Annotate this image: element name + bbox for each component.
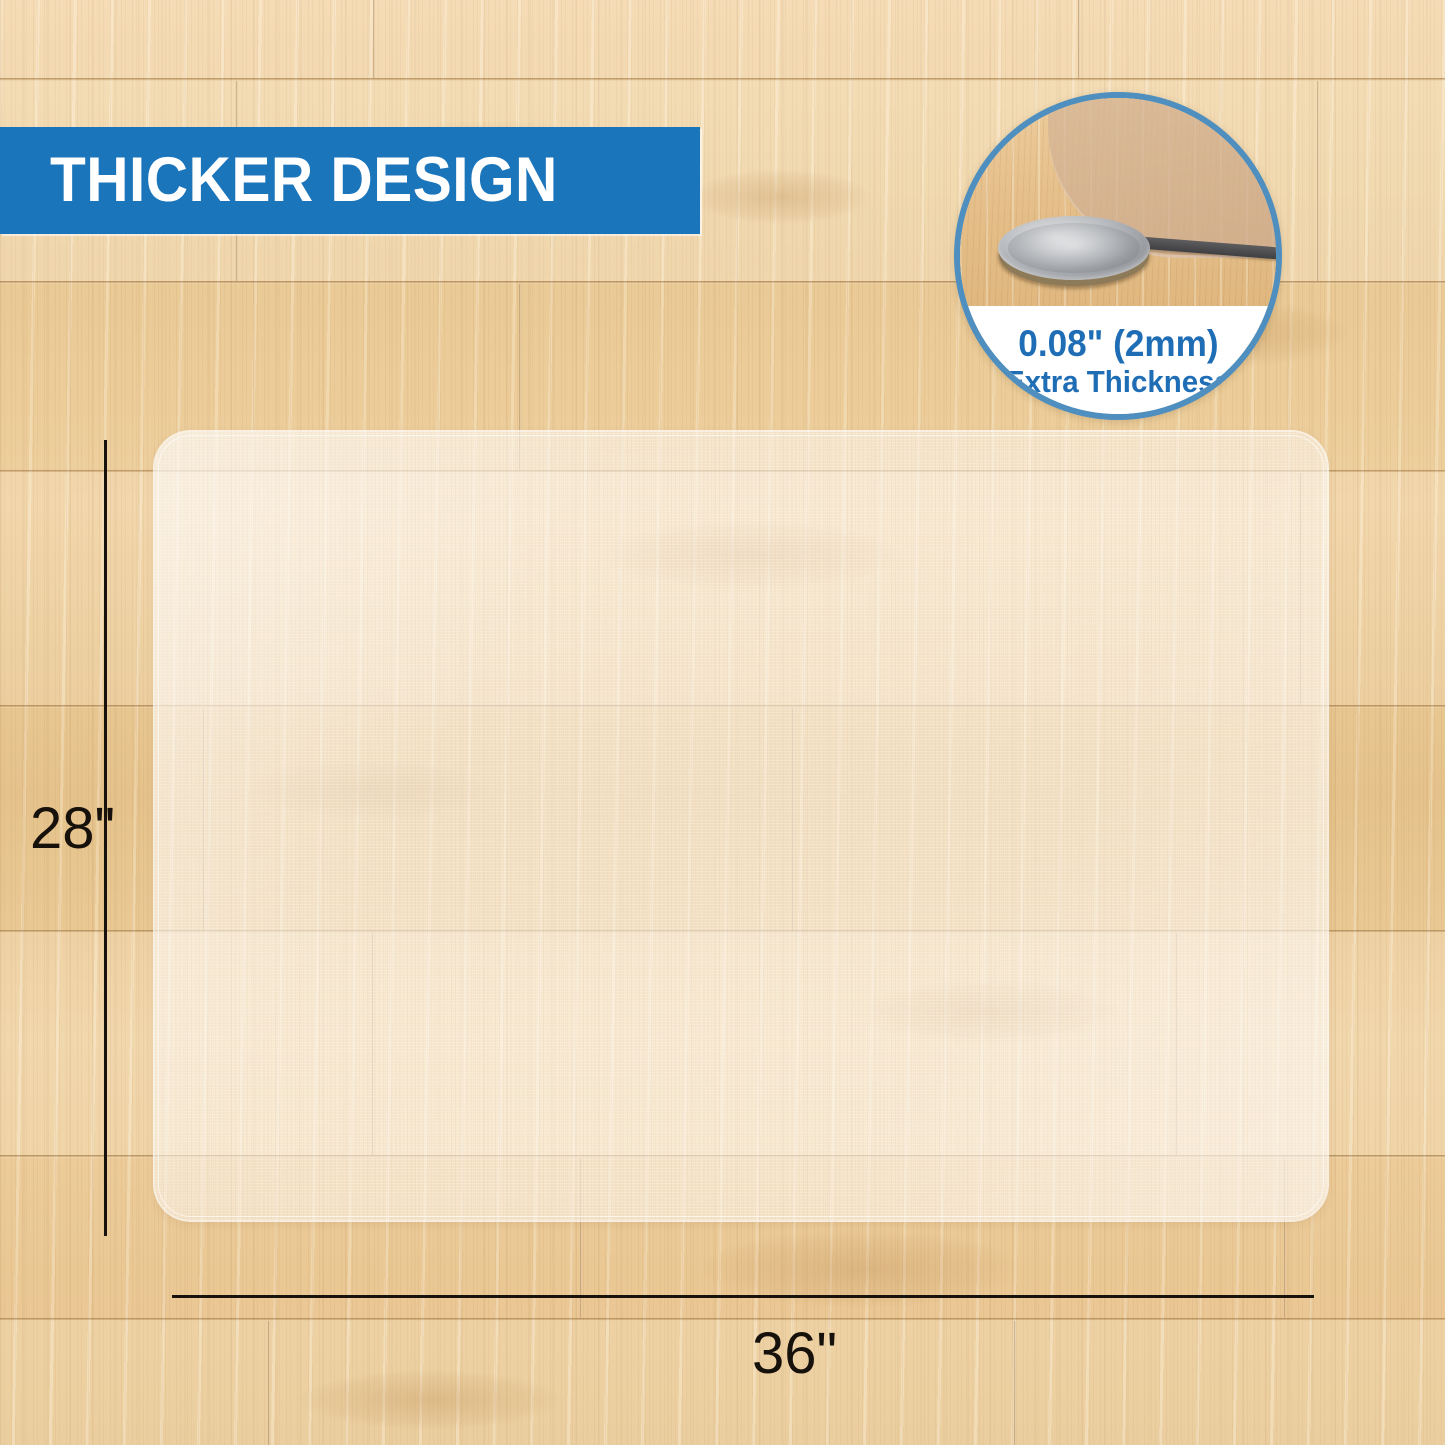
floor-plank <box>0 1321 1445 1445</box>
width-dimension-label: 36" <box>752 1325 837 1383</box>
plank-joint <box>1014 1321 1016 1445</box>
badge-thickness-caption: Extra Thickness <box>1005 365 1231 399</box>
thickness-callout-badge: 0.08" (2mm) Extra Thickness <box>954 92 1282 420</box>
banner-text: THICKER DESIGN <box>50 149 558 212</box>
plank-seam <box>0 78 1445 81</box>
quarter-coin-icon <box>998 216 1150 280</box>
plank-seam <box>0 1318 1445 1321</box>
floor-plank <box>0 0 1445 78</box>
product-image: THICKER DESIGN 0.08" (2mm) Extra Thickne… <box>0 0 1445 1445</box>
plank-joint <box>1078 0 1080 78</box>
wood-grain-knot <box>300 1370 560 1430</box>
plank-joint <box>1317 81 1319 281</box>
wood-grain-knot <box>690 170 870 224</box>
chair-mat <box>155 432 1327 1220</box>
plank-joint <box>268 1321 270 1445</box>
badge-label: 0.08" (2mm) Extra Thickness <box>960 306 1276 414</box>
width-dimension-line <box>172 1295 1314 1298</box>
plank-joint <box>373 0 375 78</box>
badge-closeup-photo <box>960 98 1276 306</box>
badge-thickness-value: 0.08" (2mm) <box>1018 325 1218 364</box>
thicker-design-banner: THICKER DESIGN <box>0 127 700 234</box>
height-dimension-label: 28" <box>30 800 115 858</box>
mat-inner-edge <box>158 435 1324 1217</box>
